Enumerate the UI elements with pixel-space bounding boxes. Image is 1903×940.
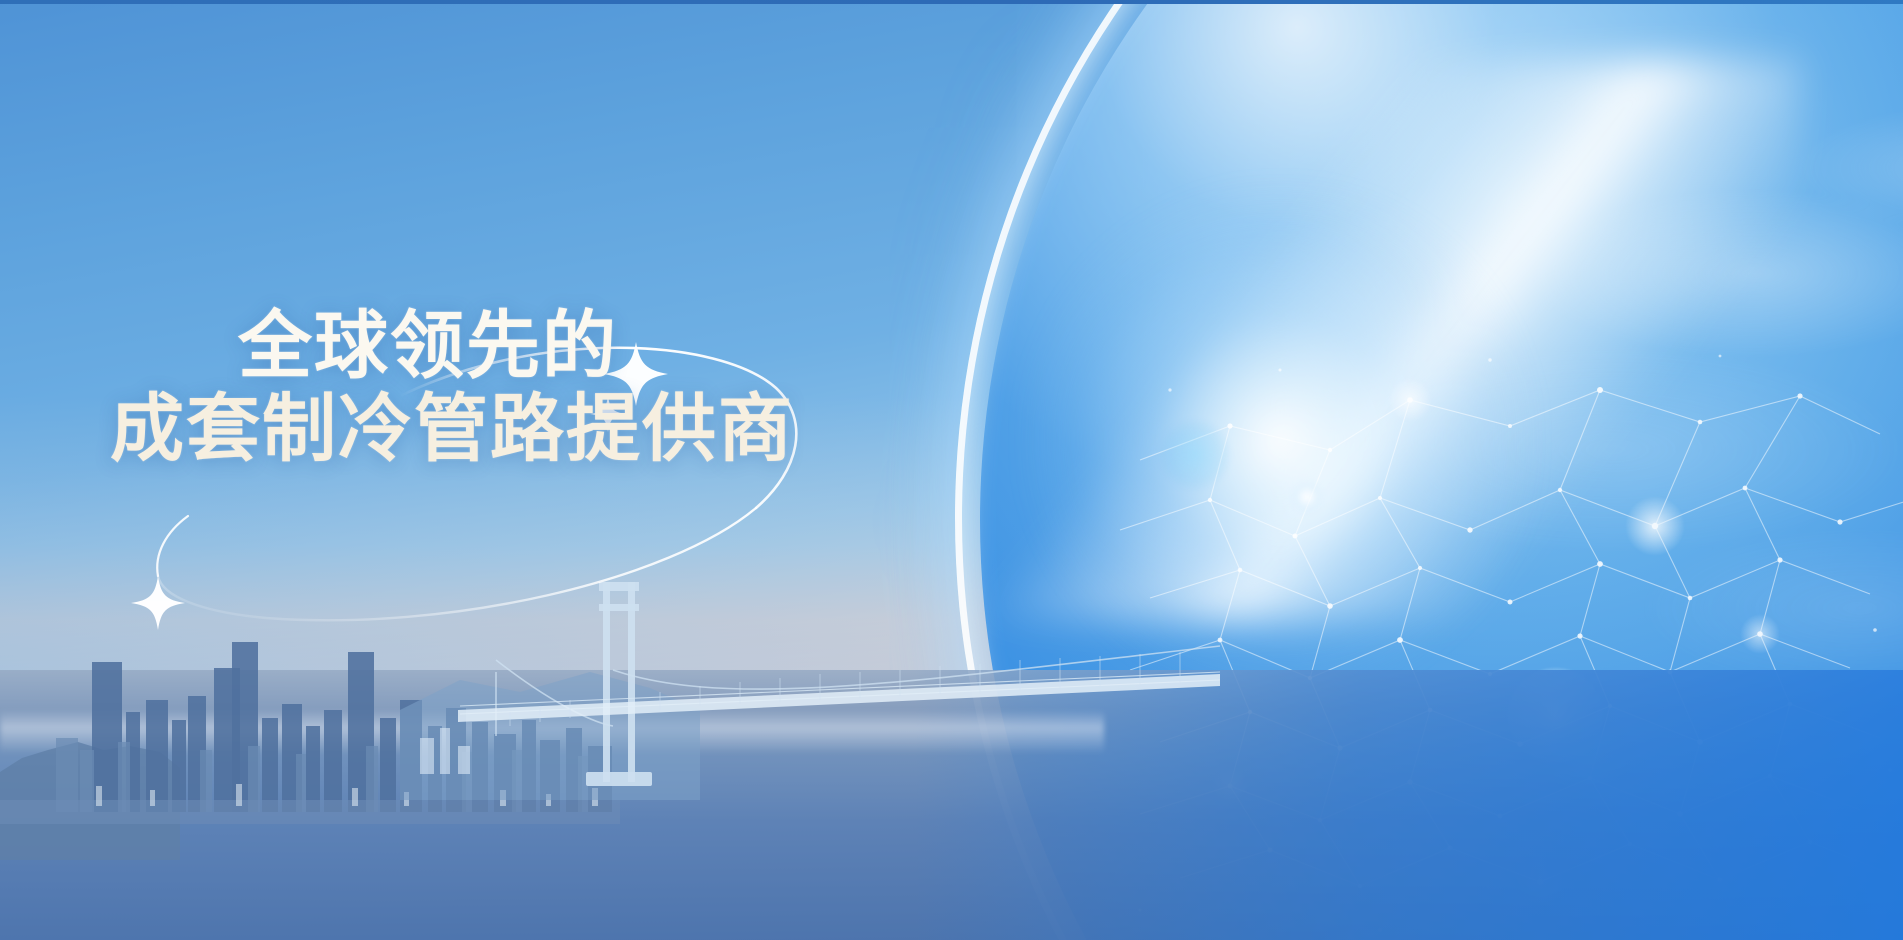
- top-edge-strip: [0, 0, 1903, 4]
- city-skyline: [0, 600, 620, 860]
- hero-banner: 全球领先的 成套制冷管路提供商: [0, 0, 1903, 940]
- earth-globe: [980, 0, 1903, 940]
- globe-cloud-texture: [980, 0, 1903, 940]
- headline-line-2: 成套制冷管路提供商: [110, 388, 870, 471]
- water-sheen: [0, 710, 1104, 754]
- sparkle-star-lower: [131, 576, 185, 630]
- headline-line-1: 全球领先的: [238, 305, 870, 388]
- headline-block: 全球领先的 成套制冷管路提供商: [110, 305, 870, 471]
